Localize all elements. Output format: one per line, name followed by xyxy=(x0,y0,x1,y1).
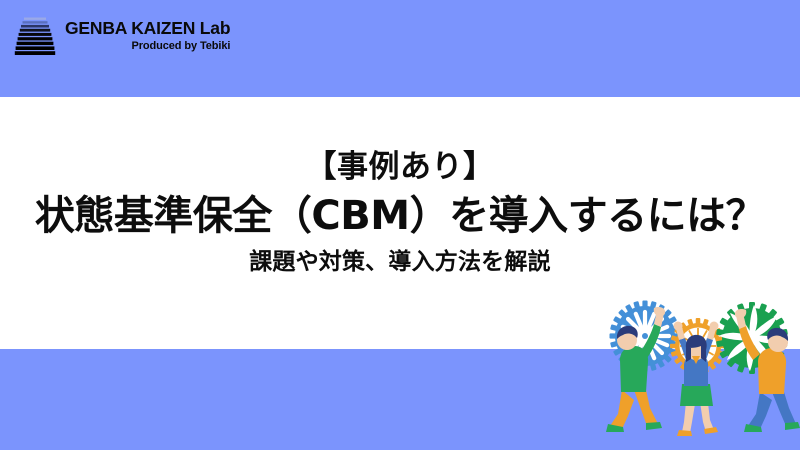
headline-subtitle: 課題や対策、導入方法を解説 xyxy=(0,249,800,277)
brand-logo[interactable]: GENBA KAIZEN Lab Produced by Tebiki xyxy=(14,16,230,56)
brand-name: GENBA KAIZEN Lab xyxy=(65,20,230,38)
headline-eyebrow: 【事例あり】 xyxy=(0,150,800,186)
stacked-pyramid-icon xyxy=(14,16,56,56)
center-worker-figure xyxy=(674,322,719,437)
brand-logo-wordmark: GENBA KAIZEN Lab Produced by Tebiki xyxy=(65,20,230,53)
brand-tagline: Produced by Tebiki xyxy=(65,41,230,52)
headline-block: 【事例あり】 状態基準保全（CBM）を導入するには？ 課題や対策、導入方法を解説 xyxy=(0,150,800,276)
page-title: 状態基準保全（CBM）を導入するには？ xyxy=(0,192,800,240)
three-people-lifting-gears-illustration xyxy=(600,296,800,450)
slide-canvas: GENBA KAIZEN Lab Produced by Tebiki 【事例あ… xyxy=(0,0,800,450)
